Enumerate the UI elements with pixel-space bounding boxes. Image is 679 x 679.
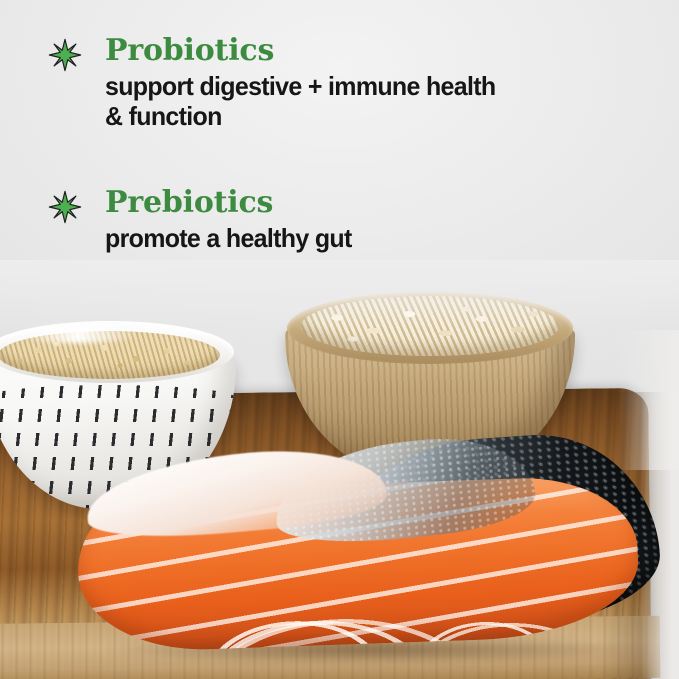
bullet-prebiotics-body: promote a healthy gut bbox=[105, 223, 643, 253]
text-overlay: Probiotics support digestive + immune he… bbox=[0, 0, 679, 280]
eight-point-star-icon bbox=[48, 190, 82, 224]
ceramic-bowl-highlight bbox=[18, 325, 138, 343]
bullet-prebiotics-text: Prebiotics promote a healthy gut bbox=[105, 186, 665, 253]
salmon-fillet bbox=[78, 436, 658, 656]
infographic-canvas: Probiotics support digestive + immune he… bbox=[0, 0, 679, 679]
bullet-probiotics-body: support digestive + immune health & func… bbox=[105, 71, 643, 131]
bullet-probiotics-heading: Probiotics bbox=[105, 34, 665, 67]
eight-point-star-icon bbox=[48, 38, 82, 72]
bullet-probiotics-text: Probiotics support digestive + immune he… bbox=[105, 34, 665, 131]
rolled-oats bbox=[301, 296, 559, 356]
bullet-prebiotics-heading: Prebiotics bbox=[105, 186, 665, 219]
